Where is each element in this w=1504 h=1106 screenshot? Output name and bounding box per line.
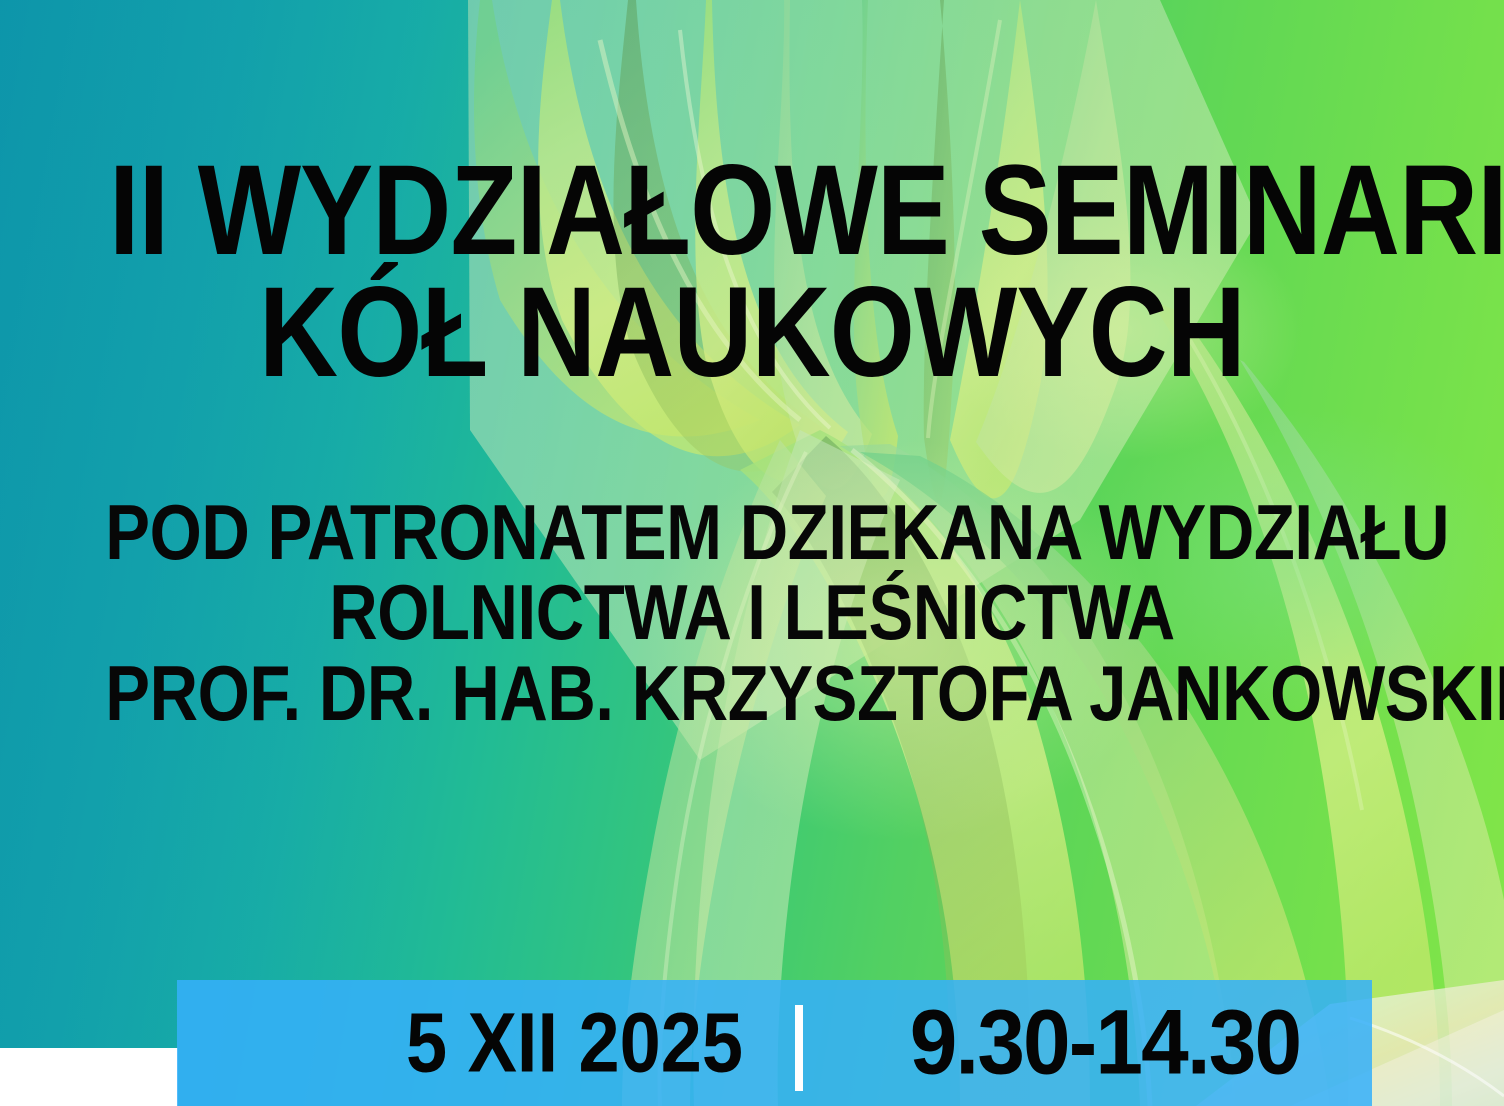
headline-line-2: KÓŁ NAUKOWYCH <box>109 272 1395 394</box>
event-time: 9.30-14.30 <box>837 991 1372 1096</box>
headline-line-1: II WYDZIAŁOWE SEMINARIUM <box>109 150 1395 272</box>
white-corner-strip <box>0 1048 178 1106</box>
subtitle-line-3: PROF. DR. HAB. KRZYSZTOFA JANKOWSKIEGO <box>105 653 1398 733</box>
event-poster: II WYDZIAŁOWE SEMINARIUM KÓŁ NAUKOWYCH P… <box>0 0 1504 1106</box>
event-info-bar: 5 XII 2025 9.30-14.30 <box>177 980 1372 1106</box>
poster-subtitle: POD PATRONATEM DZIEKANA WYDZIAŁU ROLNICT… <box>105 492 1398 733</box>
subtitle-line-2: ROLNICTWA I LEŚNICTWA <box>105 572 1398 652</box>
poster-headline: II WYDZIAŁOWE SEMINARIUM KÓŁ NAUKOWYCH <box>109 150 1395 394</box>
event-date-text: 5 XII 2025 <box>406 995 743 1092</box>
event-time-text: 9.30-14.30 <box>909 991 1300 1096</box>
bar-divider <box>795 1005 803 1091</box>
subtitle-line-1: POD PATRONATEM DZIEKANA WYDZIAŁU <box>105 492 1398 572</box>
